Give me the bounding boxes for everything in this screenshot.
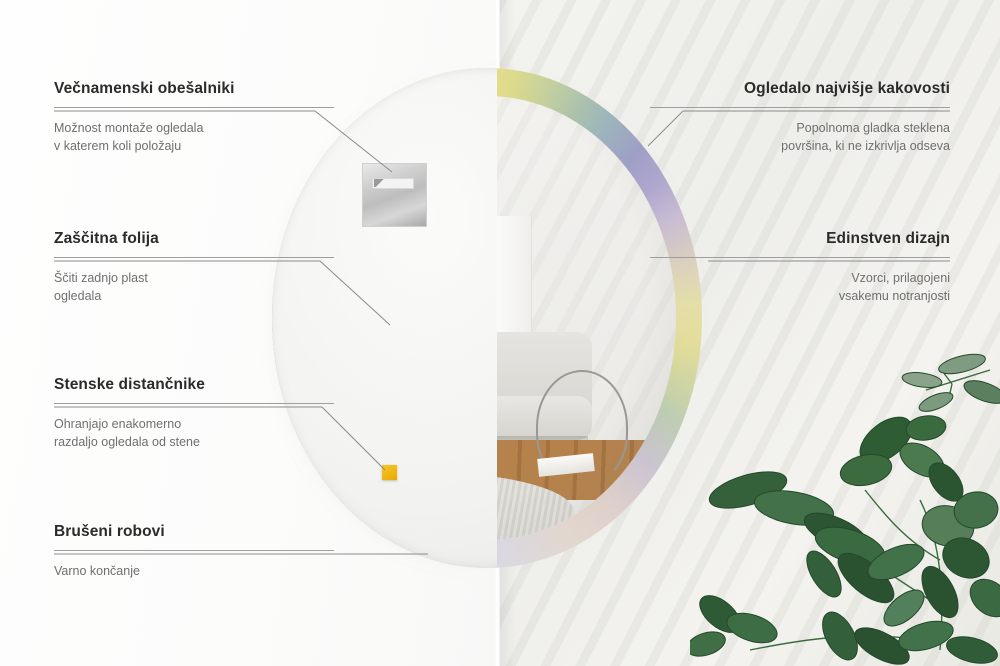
callout-protective-film: Zaščitna folija Ščiti zadnjo plast ogled… <box>54 230 334 305</box>
callout-description: Ohranjajo enakomerno razdaljo ogledala o… <box>54 415 334 451</box>
wall-spacer-icon <box>382 465 397 480</box>
callout-title: Edinstven dizajn <box>650 230 950 248</box>
callout-description: Varno končanje <box>54 562 334 580</box>
foliage-decoration <box>690 350 1000 666</box>
callout-description: Vzorci, prilagojeni vsakemu notranjosti <box>650 269 950 305</box>
hanger-plate-icon <box>362 163 427 227</box>
callout-unique-design: Edinstven dizajn Vzorci, prilagojeni vsa… <box>650 230 950 305</box>
callout-top-quality-mirror: Ogledalo najvišje kakovosti Popolnoma gl… <box>650 80 950 155</box>
callout-description: Možnost montaže ogledala v katerem koli … <box>54 119 334 155</box>
callout-description: Ščiti zadnjo plast ogledala <box>54 269 334 305</box>
callout-rule <box>54 550 334 551</box>
callout-multi-purpose-hangers: Večnamenski obešalniki Možnost montaže o… <box>54 80 334 155</box>
callout-polished-edges: Brušeni robovi Varno končanje <box>54 523 334 580</box>
product-mirror <box>272 68 702 568</box>
infographic-canvas: Večnamenski obešalniki Možnost montaže o… <box>0 0 1000 666</box>
callout-rule <box>650 257 950 258</box>
callout-title: Ogledalo najvišje kakovosti <box>650 80 950 98</box>
callout-title: Stenske distančnike <box>54 376 334 394</box>
callout-rule <box>54 107 334 108</box>
callout-title: Zaščitna folija <box>54 230 334 248</box>
callout-description: Popolnoma gladka steklena površina, ki n… <box>650 119 950 155</box>
callout-title: Večnamenski obešalniki <box>54 80 334 98</box>
callout-rule <box>54 403 334 404</box>
callout-title: Brušeni robovi <box>54 523 334 541</box>
callout-rule <box>54 257 334 258</box>
callout-wall-spacers: Stenske distančnike Ohranjajo enakomerno… <box>54 376 334 451</box>
callout-rule <box>650 107 950 108</box>
hanger-keyhole-slot <box>372 178 414 189</box>
